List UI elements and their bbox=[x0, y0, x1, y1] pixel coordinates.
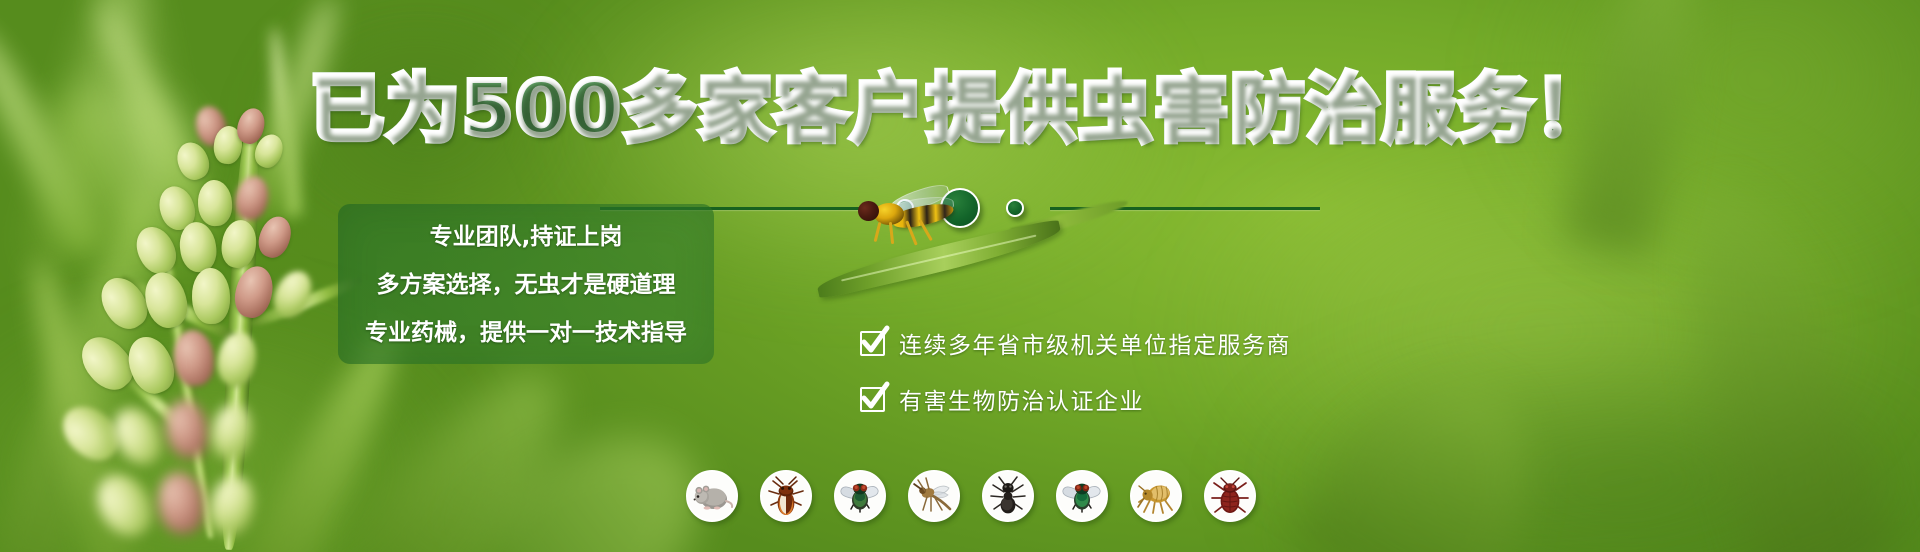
housefly-icon[interactable]: 苍蝇 bbox=[834, 470, 886, 522]
ant-icon[interactable]: 蚂蚁 bbox=[982, 470, 1034, 522]
plant-floret bbox=[139, 268, 193, 333]
plant-floret bbox=[254, 212, 297, 262]
plant-floret bbox=[196, 179, 233, 227]
plant-floret bbox=[86, 464, 164, 547]
claim-line-1: 专业团队,持证上岗 bbox=[430, 217, 623, 251]
cockroach-icon[interactable]: 蟑螂 bbox=[760, 470, 812, 522]
plant-floret bbox=[191, 267, 231, 324]
credential-text: 连续多年省市级机关单位指定服务商 bbox=[899, 326, 1291, 360]
plant-floret bbox=[208, 401, 255, 462]
plant-floret bbox=[214, 329, 261, 389]
list-item: 有害生物防治认证企业 bbox=[860, 382, 1291, 416]
bedbug-icon[interactable]: 臭虫 bbox=[1204, 470, 1256, 522]
claims-panel: 专业团队,持证上岗 多方案选择，无虫才是硬道理 专业药械，提供一对一技术指导 bbox=[338, 204, 714, 364]
claim-line-3: 专业药械，提供一对一技术指导 bbox=[365, 313, 687, 347]
fly-leg bbox=[874, 222, 882, 242]
pest-types-row: 鼠 蟑螂 bbox=[686, 470, 1256, 522]
flea-icon[interactable]: 跳蚤 bbox=[1130, 470, 1182, 522]
list-item: 连续多年省市级机关单位指定服务商 bbox=[860, 326, 1291, 360]
credentials-list: 连续多年省市级机关单位指定服务商 有害生物防治认证企业 bbox=[860, 326, 1291, 416]
checkbox-check-icon bbox=[860, 331, 885, 356]
hoverfly-on-leaf-illustration bbox=[800, 182, 1130, 312]
headline-text: 已为500多家客户提供虫害防治服务！ bbox=[310, 66, 1610, 152]
checkbox-check-icon bbox=[860, 387, 885, 412]
mosquito-icon[interactable]: 蚊 bbox=[908, 470, 960, 522]
pest-control-hero-banner: 已为500多家客户提供虫害防治服务！ 专业团队,持证上岗 多方案选择，无虫才是硬… bbox=[0, 0, 1920, 552]
blowfly-icon[interactable]: 绿头蝇 bbox=[1056, 470, 1108, 522]
claim-line-2: 多方案选择，无虫才是硬道理 bbox=[377, 265, 676, 299]
rodent-icon[interactable]: 鼠 bbox=[686, 470, 738, 522]
credential-text: 有害生物防治认证企业 bbox=[899, 382, 1144, 416]
fly-head bbox=[858, 201, 879, 221]
hoverfly-icon bbox=[852, 186, 964, 242]
page-title: 已为500多家客户提供虫害防治服务！ bbox=[0, 72, 1920, 146]
